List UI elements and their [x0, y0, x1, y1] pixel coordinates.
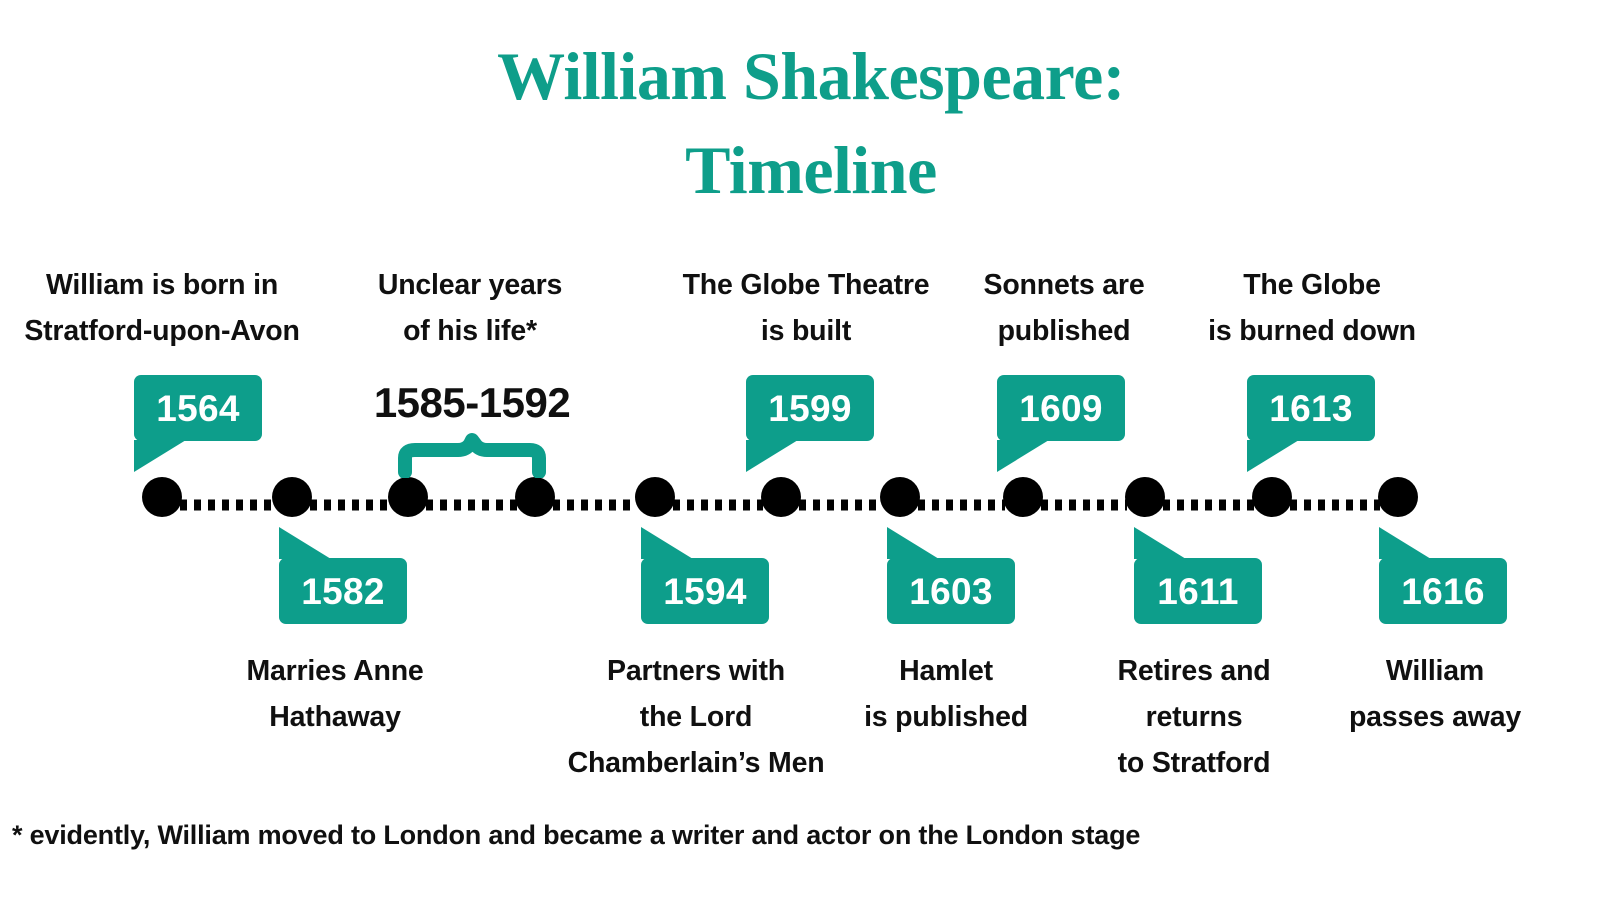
year-range-brace-icon	[396, 432, 548, 478]
timeline-dot[interactable]	[761, 477, 801, 517]
label-line: Retires and	[1117, 648, 1270, 694]
callout-tail-icon	[1247, 440, 1299, 472]
year-callout-1582[interactable]: 1582	[279, 558, 407, 624]
label-line: Hamlet	[864, 648, 1028, 694]
year-callout-1609[interactable]: 1609	[997, 375, 1125, 441]
event-label-globe-burned: The Globe is burned down	[1208, 262, 1416, 354]
year-bubble: 1609	[997, 375, 1125, 441]
title-line-2: Timeline	[0, 124, 1622, 218]
year-value: 1564	[156, 390, 240, 427]
label-line: is built	[683, 308, 930, 354]
year-callout-1611[interactable]: 1611	[1134, 558, 1262, 624]
label-line: published	[984, 308, 1145, 354]
callout-tail-icon	[279, 527, 331, 559]
year-bubble: 1603	[887, 558, 1015, 624]
callout-tail-icon	[1379, 527, 1431, 559]
timeline-dot[interactable]	[142, 477, 182, 517]
label-line: Stratford-upon-Avon	[24, 308, 299, 354]
year-bubble: 1582	[279, 558, 407, 624]
event-label-unclear-years: Unclear years of his life*	[378, 262, 562, 354]
event-label-retirement: Retires and returns to Stratford	[1117, 648, 1270, 786]
event-label-hamlet: Hamlet is published	[864, 648, 1028, 740]
year-bubble: 1599	[746, 375, 874, 441]
label-line: Hathaway	[246, 694, 423, 740]
year-bubble: 1594	[641, 558, 769, 624]
label-line: passes away	[1349, 694, 1521, 740]
label-line: Partners with	[568, 648, 825, 694]
year-value: 1603	[909, 573, 993, 610]
year-value: 1599	[768, 390, 852, 427]
event-label-marriage: Marries Anne Hathaway	[246, 648, 423, 740]
timeline-dot[interactable]	[1378, 477, 1418, 517]
event-label-globe-built: The Globe Theatre is built	[683, 262, 930, 354]
timeline-dot[interactable]	[635, 477, 675, 517]
label-line: to Stratford	[1117, 740, 1270, 786]
year-value: 1616	[1401, 573, 1485, 610]
year-callout-1613[interactable]: 1613	[1247, 375, 1375, 441]
label-line: Chamberlain’s Men	[568, 740, 825, 786]
year-range-1585-1592: 1585-1592	[374, 382, 570, 424]
year-callout-1603[interactable]: 1603	[887, 558, 1015, 624]
timeline-dot[interactable]	[880, 477, 920, 517]
timeline-dot[interactable]	[515, 477, 555, 517]
year-value: 1582	[301, 573, 385, 610]
year-range-value: 1585-1592	[374, 379, 570, 426]
label-line: William	[1349, 648, 1521, 694]
callout-tail-icon	[1134, 527, 1186, 559]
year-bubble: 1564	[134, 375, 262, 441]
year-value: 1611	[1157, 573, 1238, 610]
year-bubble: 1616	[1379, 558, 1507, 624]
title-line-1: William Shakespeare:	[0, 30, 1622, 124]
timeline-dots	[142, 477, 1418, 517]
event-label-lord-chamberlains-men: Partners with the Lord Chamberlain’s Men	[568, 648, 825, 786]
timeline-infographic: William Shakespeare: Timeline William is…	[0, 0, 1622, 900]
callout-tail-icon	[134, 440, 186, 472]
timeline-dot[interactable]	[388, 477, 428, 517]
year-bubble: 1611	[1134, 558, 1262, 624]
year-callout-1599[interactable]: 1599	[746, 375, 874, 441]
event-label-sonnets: Sonnets are published	[984, 262, 1145, 354]
footnote: * evidently, William moved to London and…	[12, 818, 1140, 853]
callout-tail-icon	[997, 440, 1049, 472]
timeline-dot[interactable]	[1125, 477, 1165, 517]
label-line: the Lord	[568, 694, 825, 740]
page-title: William Shakespeare: Timeline	[0, 30, 1622, 218]
year-callout-1564[interactable]: 1564	[134, 375, 262, 441]
year-value: 1594	[663, 573, 747, 610]
label-line: Unclear years	[378, 262, 562, 308]
label-line: of his life*	[378, 308, 562, 354]
event-label-death: William passes away	[1349, 648, 1521, 740]
event-label-born: William is born in Stratford-upon-Avon	[24, 262, 299, 354]
timeline-dot[interactable]	[1003, 477, 1043, 517]
year-callout-1594[interactable]: 1594	[641, 558, 769, 624]
year-bubble: 1613	[1247, 375, 1375, 441]
callout-tail-icon	[746, 440, 798, 472]
year-value: 1613	[1269, 390, 1353, 427]
label-line: William is born in	[24, 262, 299, 308]
label-line: Marries Anne	[246, 648, 423, 694]
label-line: is burned down	[1208, 308, 1416, 354]
year-callout-1616[interactable]: 1616	[1379, 558, 1507, 624]
label-line: Sonnets are	[984, 262, 1145, 308]
callout-tail-icon	[641, 527, 693, 559]
timeline-dot[interactable]	[272, 477, 312, 517]
callout-tail-icon	[887, 527, 939, 559]
label-line: returns	[1117, 694, 1270, 740]
label-line: is published	[864, 694, 1028, 740]
label-line: The Globe Theatre	[683, 262, 930, 308]
year-value: 1609	[1019, 390, 1103, 427]
timeline-dot[interactable]	[1252, 477, 1292, 517]
label-line: The Globe	[1208, 262, 1416, 308]
